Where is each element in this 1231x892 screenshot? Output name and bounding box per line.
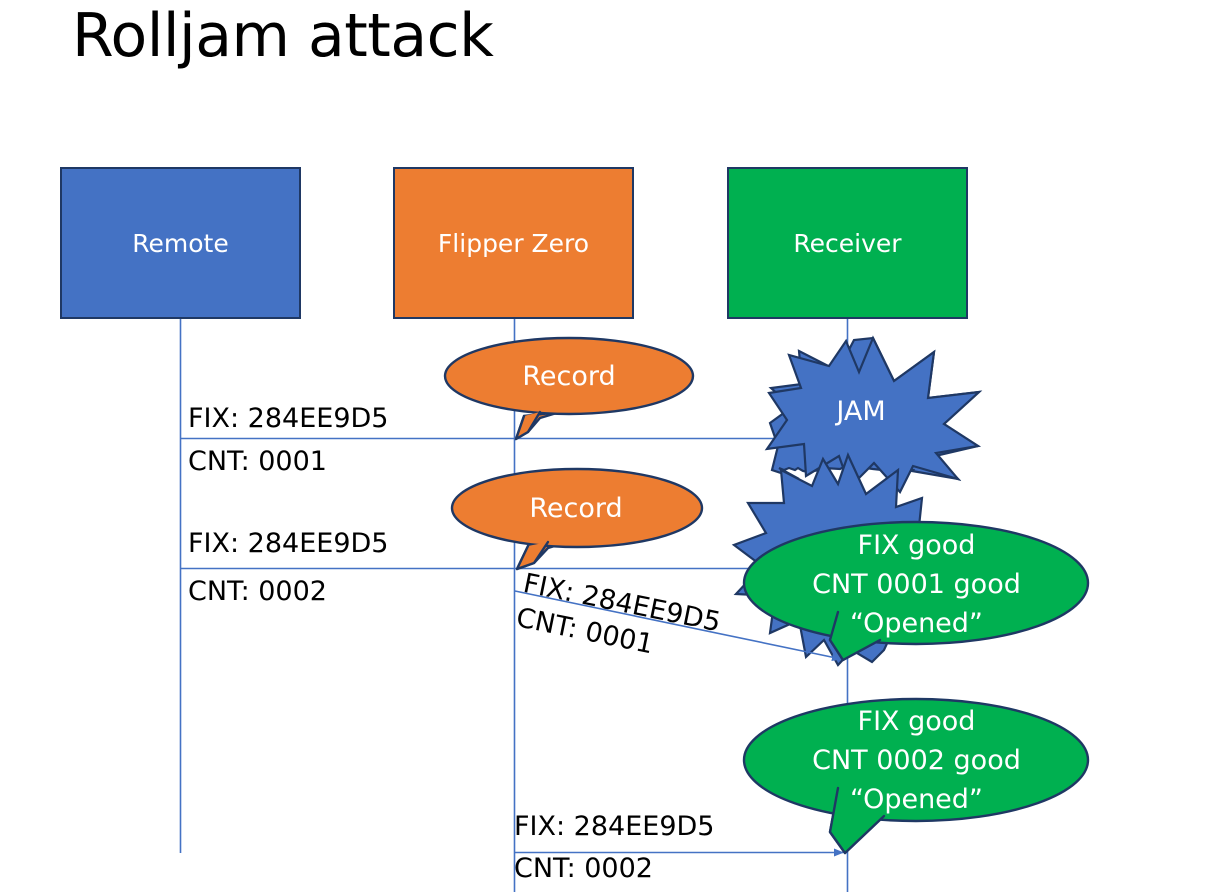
callout-green-1 (744, 522, 1088, 660)
callout-record-2 (452, 469, 702, 569)
message-label-fix-1: FIX: 284EE9D5 (188, 405, 388, 432)
message-label-cnt-1: CNT: 0001 (188, 448, 327, 475)
actor-label-flipper: Flipper Zero (438, 229, 589, 258)
jam-starburst-1 (767, 338, 979, 492)
callout-record-1 (445, 338, 693, 439)
message-label-fix-2: FIX: 284EE9D5 (188, 530, 388, 557)
actor-label-receiver: Receiver (793, 229, 901, 258)
actor-box-remote[interactable]: Remote (60, 167, 301, 319)
actor-box-receiver[interactable]: Receiver (727, 167, 968, 319)
message-label-fix-4: FIX: 284EE9D5 (514, 813, 714, 840)
actor-box-flipper[interactable]: Flipper Zero (393, 167, 634, 319)
callout-green-2 (744, 699, 1088, 853)
diagram-graphics (0, 0, 1231, 892)
slide-canvas: Rolljam attack (0, 0, 1231, 892)
message-label-cnt-2: CNT: 0002 (188, 578, 327, 605)
message-label-cnt-4: CNT: 0002 (514, 855, 653, 882)
actor-label-remote: Remote (132, 229, 228, 258)
